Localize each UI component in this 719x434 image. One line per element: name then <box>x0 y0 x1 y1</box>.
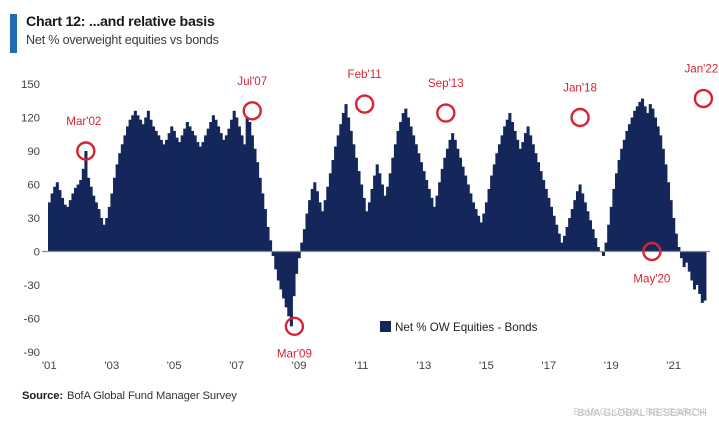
bar <box>165 140 168 252</box>
bar <box>524 133 527 251</box>
y-axis-tick-label: -30 <box>24 280 40 292</box>
bar <box>433 207 436 252</box>
bar <box>407 118 410 252</box>
bar <box>680 252 683 259</box>
bar <box>397 131 400 252</box>
bar <box>581 193 584 251</box>
bar <box>92 196 95 252</box>
bar <box>251 135 254 251</box>
bar <box>654 118 657 252</box>
bar <box>58 190 61 251</box>
bar <box>690 252 693 281</box>
chart-annotation: Jul'07 <box>237 75 267 120</box>
bar <box>683 252 686 268</box>
y-axis-tick-label: 60 <box>27 180 40 192</box>
bar <box>571 209 574 251</box>
bar <box>157 135 160 251</box>
annotation-label: Sep'13 <box>428 77 464 90</box>
bar <box>175 138 178 252</box>
bar <box>410 126 413 251</box>
bar <box>298 252 301 259</box>
x-axis-tick-label: '19 <box>604 360 619 372</box>
bar <box>183 129 186 252</box>
bar <box>529 135 532 251</box>
bar <box>373 176 376 252</box>
bar <box>519 149 522 252</box>
bar <box>170 126 173 251</box>
x-axis-tick-label: '03 <box>104 360 119 372</box>
bar <box>74 188 77 252</box>
bar <box>186 122 189 252</box>
chart-annotation: Mar'02 <box>66 115 101 160</box>
bar <box>134 111 137 252</box>
chart-legend: Net % OW Equities - Bonds <box>380 321 538 334</box>
bar <box>360 185 363 252</box>
bar <box>318 202 321 251</box>
bar <box>131 115 134 251</box>
bar <box>615 173 618 251</box>
bar <box>188 126 191 251</box>
bar <box>586 211 589 251</box>
bar <box>61 198 64 252</box>
bar <box>264 209 267 251</box>
bar <box>342 113 345 251</box>
bar <box>201 142 204 251</box>
chart-annotation: Mar'09 <box>277 318 312 361</box>
y-axis-tick-label: -60 <box>24 314 40 326</box>
y-axis-tick-label: 30 <box>27 213 40 225</box>
bar <box>308 200 311 251</box>
bar <box>649 104 652 251</box>
bar <box>698 252 701 294</box>
bar <box>240 135 243 251</box>
bar <box>277 252 280 281</box>
bar <box>217 126 220 251</box>
bar <box>415 144 418 251</box>
bar <box>162 144 165 251</box>
bar <box>516 140 519 252</box>
chart-annotation: Jan'22 <box>684 63 718 108</box>
bar <box>670 200 673 251</box>
bar <box>456 149 459 252</box>
bar <box>56 182 59 251</box>
bar <box>438 182 441 251</box>
bar <box>482 214 485 252</box>
bar <box>511 122 514 252</box>
bar <box>404 109 407 252</box>
bar <box>69 200 72 251</box>
bar <box>631 118 634 252</box>
bar <box>612 189 615 252</box>
bar <box>644 106 647 251</box>
bar <box>181 135 184 251</box>
bar <box>235 118 238 252</box>
bar <box>282 252 285 299</box>
bar <box>428 189 431 252</box>
bar <box>339 124 342 251</box>
source-value: BofA Global Fund Manager Survey <box>67 390 237 402</box>
x-axis-tick-label: '13 <box>417 360 432 372</box>
bar <box>693 252 696 290</box>
bar <box>566 227 569 252</box>
y-axis-tick-label: 90 <box>27 146 40 158</box>
bar <box>139 120 142 252</box>
bar <box>248 122 251 252</box>
bar <box>501 135 504 251</box>
chart-page: Chart 12: ...and relative basis Net % ov… <box>0 0 719 434</box>
bar <box>451 133 454 251</box>
bar <box>220 133 223 251</box>
bar <box>592 229 595 251</box>
bar <box>467 185 470 252</box>
bar <box>292 252 295 297</box>
bar <box>238 126 241 251</box>
bar <box>399 122 402 252</box>
annotation-label: Mar'09 <box>277 347 312 360</box>
bar <box>53 187 56 252</box>
bar <box>149 120 152 252</box>
bar <box>378 173 381 251</box>
bar <box>376 164 379 251</box>
bar <box>605 243 608 252</box>
bar <box>641 99 644 252</box>
bar-chart: 1501209060300-30-60-90'01'03'05'07'09'11… <box>0 0 719 434</box>
bar <box>534 153 537 251</box>
bar <box>97 209 100 251</box>
bar <box>506 120 509 252</box>
bar <box>259 178 262 252</box>
bar <box>386 187 389 252</box>
source-note: Source:BofA Global Fund Manager Survey <box>22 390 237 402</box>
x-axis-tick-label: '09 <box>292 360 307 372</box>
bar <box>212 115 215 251</box>
bar <box>326 187 329 252</box>
bar <box>329 173 332 251</box>
bar <box>610 207 613 252</box>
bar <box>352 144 355 251</box>
y-axis-tick-label: -90 <box>24 347 40 359</box>
bar <box>389 173 392 251</box>
bar <box>303 229 306 251</box>
bar <box>675 234 678 252</box>
bar <box>446 149 449 252</box>
annotation-circle-icon <box>695 90 712 107</box>
bar <box>464 176 467 252</box>
bar <box>423 171 426 251</box>
bar <box>443 158 446 252</box>
bar <box>602 252 605 256</box>
bar <box>233 111 236 252</box>
bar <box>490 176 493 252</box>
bar <box>449 140 452 252</box>
x-axis-tick-label: '17 <box>541 360 556 372</box>
plot-area: 1501209060300-30-60-90'01'03'05'07'09'11… <box>0 0 719 434</box>
x-axis-tick-label: '11 <box>355 360 369 372</box>
legend-label: Net % OW Equities - Bonds <box>395 321 538 334</box>
bar <box>579 185 582 252</box>
bar <box>555 225 558 252</box>
bar <box>521 142 524 251</box>
bar <box>113 178 116 252</box>
bar <box>508 113 511 251</box>
bar <box>295 252 298 274</box>
y-axis-tick-label: 150 <box>21 79 40 91</box>
bar <box>589 220 592 251</box>
bar <box>667 182 670 251</box>
bar <box>573 200 576 251</box>
bar <box>66 207 69 252</box>
bar <box>685 252 688 263</box>
bar <box>64 205 67 252</box>
bar <box>51 193 54 251</box>
bar <box>545 189 548 252</box>
bar <box>246 118 249 252</box>
annotation-label: Mar'02 <box>66 115 101 128</box>
bar <box>618 160 621 252</box>
bar <box>703 252 706 301</box>
bar <box>110 193 113 251</box>
bar <box>355 158 358 252</box>
bar <box>498 144 501 251</box>
bar <box>136 115 139 251</box>
bar <box>391 158 394 252</box>
bar <box>105 218 108 252</box>
bar <box>350 131 353 252</box>
bar <box>168 133 171 251</box>
bar <box>688 252 691 272</box>
bar <box>95 202 98 251</box>
bar <box>459 158 462 252</box>
bar <box>477 216 480 252</box>
annotation-label: Jul'07 <box>237 75 267 88</box>
bar <box>454 140 457 252</box>
bar <box>514 131 517 252</box>
x-axis-tick-label: '21 <box>666 360 681 372</box>
chart-annotation: Sep'13 <box>428 77 464 122</box>
bar <box>222 140 225 252</box>
bar <box>230 120 233 252</box>
bar <box>214 120 217 252</box>
bar <box>381 185 384 252</box>
bar <box>279 252 282 290</box>
bar <box>178 142 181 251</box>
bar <box>300 243 303 252</box>
bar <box>199 147 202 252</box>
bar <box>472 202 475 251</box>
bar <box>331 160 334 252</box>
bar <box>628 124 631 251</box>
bar <box>607 225 610 252</box>
bar <box>623 140 626 252</box>
bar <box>420 162 423 251</box>
bar-series <box>48 99 706 327</box>
bar <box>527 126 530 251</box>
bar <box>324 200 327 251</box>
annotation-circle-icon <box>286 318 303 335</box>
bar <box>584 202 587 251</box>
annotation-label: Jan'18 <box>563 82 597 95</box>
bar <box>384 196 387 252</box>
bar <box>290 252 293 327</box>
bar <box>394 144 397 251</box>
bar <box>103 225 106 252</box>
bar <box>532 144 535 251</box>
legend-swatch <box>380 321 391 332</box>
bar <box>485 202 488 251</box>
bar <box>412 135 415 251</box>
bar <box>100 218 103 252</box>
bar <box>344 104 347 251</box>
bar <box>48 202 51 251</box>
bar <box>568 218 571 252</box>
bar <box>155 131 158 252</box>
bar <box>672 218 675 252</box>
watermark-overlay: BofA GLOBAL RESEARCH <box>573 407 705 418</box>
annotation-circle-icon <box>356 96 373 113</box>
bar <box>272 252 275 256</box>
source-label: Source: <box>22 390 63 402</box>
bar <box>576 191 579 251</box>
bar <box>657 126 660 251</box>
bar <box>425 180 428 251</box>
bar <box>537 162 540 251</box>
y-axis-tick-label: 120 <box>21 113 40 125</box>
bar <box>337 135 340 251</box>
bar <box>371 189 374 252</box>
bar <box>313 182 316 251</box>
annotation-circle-icon <box>244 102 261 119</box>
bar <box>638 102 641 252</box>
x-axis-tick-label: '05 <box>167 360 182 372</box>
chart-annotation: Jan'18 <box>563 82 597 127</box>
bar <box>144 118 147 252</box>
bar <box>79 180 82 251</box>
annotation-label: May'20 <box>633 273 670 286</box>
bar <box>129 120 132 252</box>
bar <box>118 153 121 251</box>
y-axis-tick-label: 0 <box>34 247 40 259</box>
bar <box>305 214 308 252</box>
bar <box>636 106 639 251</box>
bar <box>495 153 498 251</box>
bar <box>123 135 126 251</box>
bar <box>469 193 472 251</box>
bar <box>82 169 85 252</box>
bar <box>321 211 324 251</box>
bar <box>547 198 550 252</box>
bar <box>116 164 119 251</box>
bar <box>225 135 228 251</box>
bar <box>152 126 155 251</box>
bar <box>347 118 350 252</box>
bar <box>191 131 194 252</box>
bar <box>646 113 649 251</box>
bar <box>311 189 314 252</box>
bar <box>261 193 264 251</box>
bar <box>651 109 654 252</box>
bar <box>430 198 433 252</box>
bar <box>108 207 111 252</box>
bar <box>365 211 368 251</box>
bar <box>142 124 145 251</box>
bar <box>227 129 230 252</box>
bar <box>256 162 259 251</box>
bar <box>126 126 129 251</box>
bar <box>436 196 439 252</box>
bar <box>550 207 553 252</box>
annotation-label: Feb'11 <box>348 68 382 81</box>
bar <box>542 180 545 251</box>
bar <box>462 167 465 252</box>
bar <box>594 238 597 251</box>
bar <box>493 164 496 251</box>
bar <box>488 189 491 252</box>
x-axis-tick-label: '07 <box>229 360 244 372</box>
bar <box>316 191 319 251</box>
bar <box>625 131 628 252</box>
bar <box>160 140 163 252</box>
bar <box>363 198 366 252</box>
bar <box>71 193 74 251</box>
bar <box>173 131 176 252</box>
x-axis-tick-label: '15 <box>479 360 494 372</box>
bar <box>677 247 680 251</box>
bar <box>633 111 636 252</box>
bar <box>334 147 337 252</box>
bar <box>597 247 600 251</box>
bar <box>563 236 566 252</box>
bar <box>560 243 563 252</box>
bar <box>196 142 199 251</box>
bar <box>662 149 665 252</box>
x-axis-tick-label: '01 <box>42 360 57 372</box>
bar <box>540 171 543 251</box>
bar <box>558 234 561 252</box>
bar <box>701 252 704 303</box>
bar <box>357 171 360 251</box>
bar <box>147 111 150 252</box>
bar <box>121 144 124 251</box>
bar <box>417 153 420 251</box>
bar <box>84 151 87 252</box>
bar <box>620 149 623 252</box>
bar <box>77 185 80 252</box>
bar <box>368 202 371 251</box>
annotation-label: Jan'22 <box>684 63 718 76</box>
bar <box>87 178 90 252</box>
bar <box>402 113 405 251</box>
bar <box>664 164 667 251</box>
bar <box>207 129 210 252</box>
annotation-circle-icon <box>572 109 589 126</box>
bar <box>269 240 272 251</box>
bar <box>441 169 444 252</box>
bar <box>475 209 478 251</box>
bar <box>253 149 256 252</box>
bar <box>209 122 212 252</box>
bar <box>285 252 288 308</box>
bar <box>266 227 269 252</box>
bar <box>274 252 277 270</box>
bar <box>204 135 207 251</box>
bar <box>90 187 93 252</box>
bar <box>480 222 483 251</box>
bar <box>243 144 246 251</box>
chart-annotation: Feb'11 <box>348 68 382 113</box>
bar <box>287 252 290 317</box>
bar <box>659 135 662 251</box>
annotation-circle-icon <box>437 105 454 122</box>
